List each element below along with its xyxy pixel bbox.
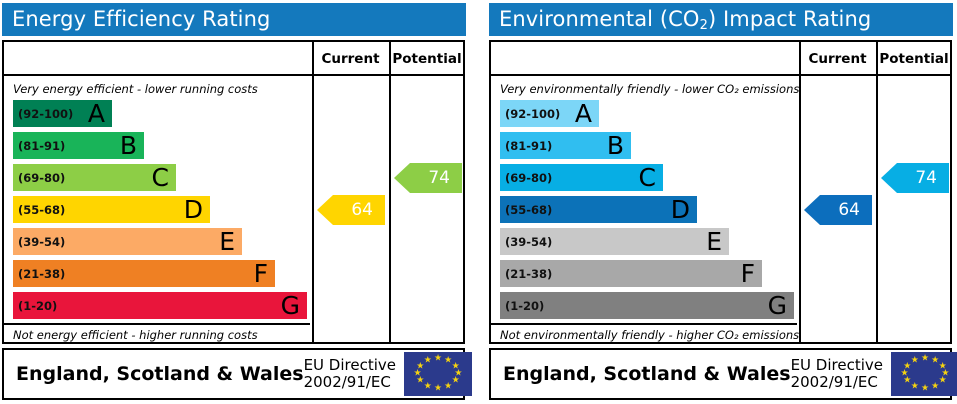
caption-bottom: Not environmentally friendly - higher CO… <box>500 328 799 342</box>
rating-arrow-potential: 74 <box>881 163 949 193</box>
rating-band-G: (1-20)G <box>13 292 307 319</box>
epc-charts-container: Energy Efficiency RatingCurrentPotential… <box>0 0 957 404</box>
band-letter-label: G <box>281 293 300 318</box>
eu-flag-star: ★ <box>921 384 929 393</box>
eu-flag-star: ★ <box>434 355 442 364</box>
column-divider-potential <box>876 42 878 342</box>
chart-footer: England, Scotland & WalesEU Directive200… <box>2 348 465 400</box>
band-range-label: (55-68) <box>500 203 552 217</box>
column-header-current: Current <box>799 42 876 76</box>
rating-band-C: (69-80)C <box>500 164 663 191</box>
column-header-potential: Potential <box>389 42 465 76</box>
caption-top: Very energy efficient - lower running co… <box>13 82 258 96</box>
rating-band-C: (69-80)C <box>13 164 176 191</box>
rating-arrow-current: 64 <box>317 195 385 225</box>
band-range-label: (21-38) <box>500 267 552 281</box>
chart-title-bar: Environmental (CO2) Impact Rating <box>489 3 953 36</box>
rating-arrow-current: 64 <box>804 195 872 225</box>
eu-flag-star: ★ <box>911 357 919 366</box>
band-range-label: (21-38) <box>13 267 65 281</box>
band-letter-label: B <box>120 133 137 158</box>
rating-band-B: (81-91)B <box>500 132 631 159</box>
band-letter-label: A <box>88 101 105 126</box>
caption-top: Very environmentally friendly - lower CO… <box>500 82 799 96</box>
eu-directive-line1: EU Directive <box>304 357 396 374</box>
ratings-table: CurrentPotentialVery environmentally fri… <box>489 40 952 344</box>
band-range-label: (81-91) <box>500 139 552 153</box>
footer-region-label: England, Scotland & Wales <box>4 363 304 385</box>
rating-band-E: (39-54)E <box>500 228 729 255</box>
rating-band-F: (21-38)F <box>13 260 275 287</box>
eu-flag-star: ★ <box>921 355 929 364</box>
band-range-label: (1-20) <box>500 299 544 313</box>
eu-flag-icon: ★★★★★★★★★★★★ <box>404 352 472 396</box>
column-divider-potential <box>389 42 391 342</box>
caption-divider <box>4 323 310 325</box>
rating-arrow-value-potential: 74 <box>428 168 450 188</box>
eu-flag-star: ★ <box>424 382 432 391</box>
eu-flag-icon: ★★★★★★★★★★★★ <box>891 352 957 396</box>
rating-band-D: (55-68)D <box>13 196 210 223</box>
eu-flag-star: ★ <box>434 384 442 393</box>
band-letter-label: F <box>254 261 268 286</box>
band-letter-label: C <box>152 165 169 190</box>
band-letter-label: D <box>184 197 203 222</box>
column-header-potential: Potential <box>876 42 952 76</box>
eu-flag-star: ★ <box>931 382 939 391</box>
band-letter-label: D <box>671 197 690 222</box>
band-range-label: (92-100) <box>500 107 560 121</box>
eu-directive-line1: EU Directive <box>791 357 883 374</box>
rating-band-E: (39-54)E <box>13 228 242 255</box>
rating-arrow-potential: 74 <box>394 163 462 193</box>
band-letter-label: E <box>706 229 722 254</box>
band-letter-label: A <box>575 101 592 126</box>
chart-footer: England, Scotland & WalesEU Directive200… <box>489 348 952 400</box>
ratings-table: CurrentPotentialVery energy efficient - … <box>2 40 465 344</box>
column-header-current: Current <box>312 42 389 76</box>
eu-flag-star: ★ <box>911 382 919 391</box>
chart-title-bar: Energy Efficiency Rating <box>2 3 466 36</box>
rating-band-B: (81-91)B <box>13 132 144 159</box>
band-range-label: (55-68) <box>13 203 65 217</box>
rating-band-A: (92-100)A <box>500 100 599 127</box>
eu-flag-star: ★ <box>444 382 452 391</box>
band-letter-label: C <box>639 165 656 190</box>
rating-band-A: (92-100)A <box>13 100 112 127</box>
band-range-label: (1-20) <box>13 299 57 313</box>
energy-efficiency-chart: Energy Efficiency RatingCurrentPotential… <box>0 0 470 404</box>
footer-region-label: England, Scotland & Wales <box>491 363 791 385</box>
band-letter-label: E <box>219 229 235 254</box>
eu-flag-star: ★ <box>452 377 460 386</box>
band-range-label: (69-80) <box>13 171 65 185</box>
band-range-label: (39-54) <box>500 235 552 249</box>
chart-title: Energy Efficiency Rating <box>2 9 270 30</box>
eu-directive-label: EU Directive2002/91/EC <box>791 357 891 391</box>
column-divider-current <box>312 42 314 342</box>
rating-band-D: (55-68)D <box>500 196 697 223</box>
eu-flag-star: ★ <box>424 357 432 366</box>
band-range-label: (92-100) <box>13 107 73 121</box>
band-letter-label: B <box>607 133 624 158</box>
eu-flag-star: ★ <box>939 377 947 386</box>
rating-bands: (92-100)A(81-91)B(69-80)C(55-68)D(39-54)… <box>491 100 797 322</box>
band-letter-label: G <box>768 293 787 318</box>
chart-title: Environmental (CO2) Impact Rating <box>489 9 871 30</box>
band-range-label: (69-80) <box>500 171 552 185</box>
band-range-label: (81-91) <box>13 139 65 153</box>
eu-directive-label: EU Directive2002/91/EC <box>304 357 404 391</box>
eu-directive-line2: 2002/91/EC <box>791 374 883 391</box>
band-letter-label: F <box>741 261 755 286</box>
rating-band-F: (21-38)F <box>500 260 762 287</box>
caption-divider <box>491 323 797 325</box>
rating-arrow-value-current: 64 <box>838 200 860 220</box>
rating-arrow-value-current: 64 <box>351 200 373 220</box>
co2-impact-chart: Environmental (CO2) Impact RatingCurrent… <box>487 0 957 404</box>
rating-arrow-value-potential: 74 <box>915 168 937 188</box>
band-range-label: (39-54) <box>13 235 65 249</box>
rating-bands: (92-100)A(81-91)B(69-80)C(55-68)D(39-54)… <box>4 100 310 322</box>
eu-directive-line2: 2002/91/EC <box>304 374 396 391</box>
caption-bottom: Not energy efficient - higher running co… <box>13 328 258 342</box>
rating-band-G: (1-20)G <box>500 292 794 319</box>
